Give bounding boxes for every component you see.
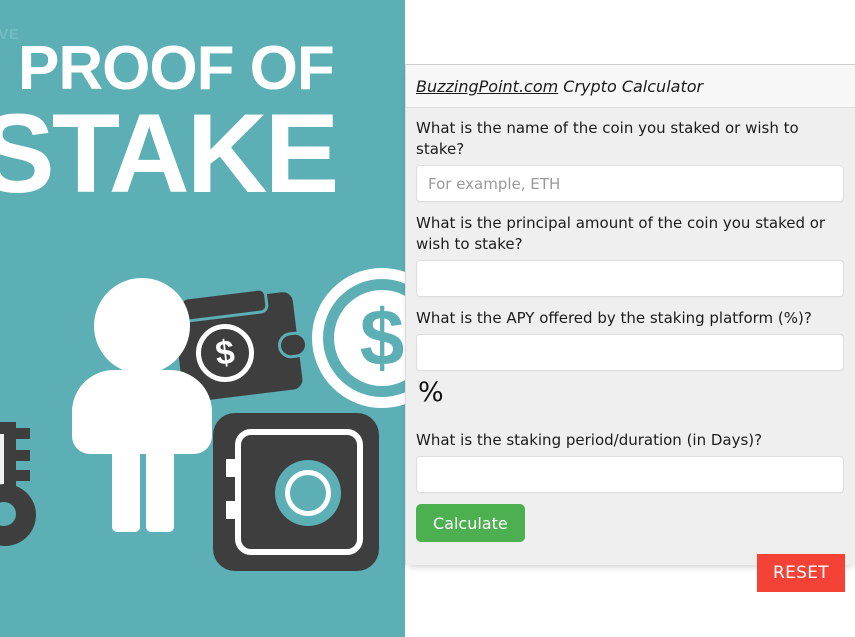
calculator-title: Crypto Calculator [558, 77, 703, 96]
key-tooth [14, 450, 30, 461]
person-body [72, 370, 212, 454]
calculator-form: What is the name of the coin you staked … [406, 108, 855, 592]
key-icon [0, 418, 52, 548]
page-root: TIVE PROOF OF STAKE $ $ [0, 0, 855, 637]
crypto-calculator-panel: BuzzingPoint.com Crypto Calculator What … [405, 64, 855, 565]
principal-amount-label: What is the principal amount of the coin… [416, 213, 845, 255]
reset-button-row: RESET [416, 542, 845, 592]
dollar-coin-icon: $ [312, 268, 405, 408]
person-leg-left [112, 446, 140, 532]
dollar-coin-inner: $ [334, 290, 405, 386]
percent-symbol: % [418, 378, 845, 408]
safe-dial-ring [285, 470, 331, 516]
field-principal-amount: What is the principal amount of the coin… [416, 213, 845, 297]
person-head [94, 278, 190, 374]
hero-title-line2: STAKE [0, 98, 336, 210]
calculate-button[interactable]: Calculate [416, 504, 525, 542]
calculator-header: BuzzingPoint.com Crypto Calculator [406, 65, 855, 108]
key-tooth [14, 470, 30, 481]
site-name-link[interactable]: BuzzingPoint.com [416, 77, 558, 96]
safe-hinge [226, 501, 239, 519]
field-apy: What is the APY offered by the staking p… [416, 308, 845, 408]
coin-name-label: What is the name of the coin you staked … [416, 118, 845, 160]
safe-hinge [226, 459, 239, 477]
reset-button[interactable]: RESET [757, 554, 845, 592]
safe-icon [213, 413, 379, 571]
coin-name-input[interactable] [416, 165, 844, 202]
principal-amount-input[interactable] [416, 260, 844, 297]
staking-period-input[interactable] [416, 456, 844, 493]
key-tooth [14, 428, 30, 439]
hero-kicker-text: TIVE [0, 26, 19, 43]
person-leg-right [146, 446, 174, 532]
apy-label: What is the APY offered by the staking p… [416, 308, 845, 329]
field-staking-period: What is the staking period/duration (in … [416, 430, 845, 493]
hero-image: TIVE PROOF OF STAKE $ $ [0, 0, 405, 637]
apy-input[interactable] [416, 334, 844, 371]
person-icon [72, 278, 212, 528]
wallet-dollar-sign-glyph: $ [214, 335, 237, 371]
dollar-sign-glyph: $ [360, 298, 405, 378]
staking-period-label: What is the staking period/duration (in … [416, 430, 845, 451]
field-coin-name: What is the name of the coin you staked … [416, 118, 845, 202]
